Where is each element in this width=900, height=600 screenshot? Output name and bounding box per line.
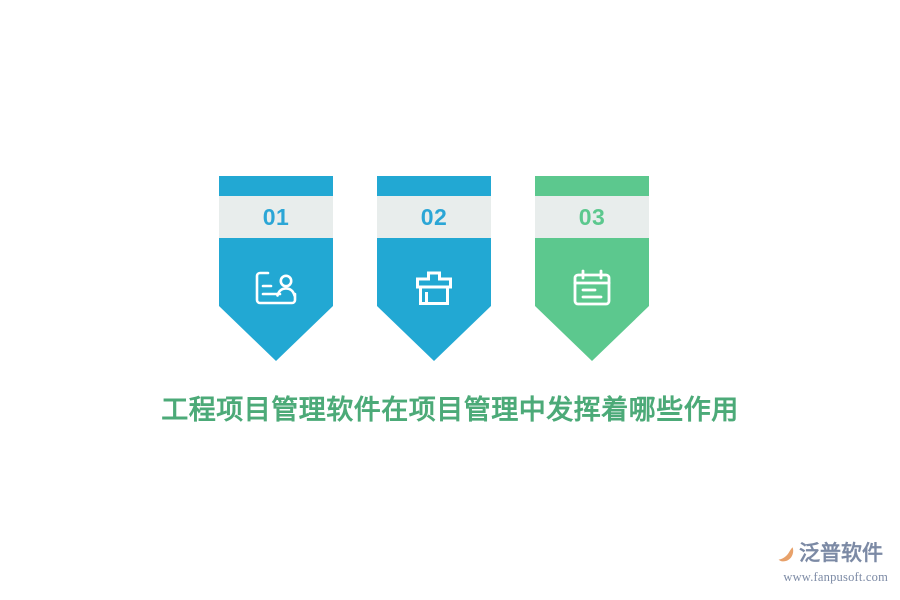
poster-canvas: 01 02: [0, 0, 900, 600]
banner-number: 03: [579, 206, 606, 229]
banner-item-02[interactable]: 02: [377, 176, 491, 361]
logo-row: 泛普软件: [770, 538, 888, 568]
banner-item-03[interactable]: 03: [535, 176, 649, 361]
banner-group: 01 02: [219, 176, 650, 361]
clipboard-calendar-icon: [535, 264, 649, 312]
storefront-icon: [377, 264, 491, 312]
logo-url: www.fanpusoft.com: [770, 570, 888, 585]
banner-number: 02: [421, 206, 448, 229]
banner-number: 01: [263, 206, 290, 229]
brand-logo[interactable]: 泛普软件 www.fanpusoft.com: [770, 538, 888, 584]
id-card-person-icon: [219, 264, 333, 312]
logo-name: 泛普软件: [799, 543, 883, 564]
banner-number-band: 02: [377, 196, 491, 238]
fanpu-swoosh-logo-icon: [770, 540, 796, 566]
banner-item-01[interactable]: 01: [219, 176, 333, 361]
banner-number-band: 03: [535, 196, 649, 238]
banner-number-band: 01: [219, 196, 333, 238]
page-title: 工程项目管理软件在项目管理中发挥着哪些作用: [0, 388, 900, 427]
